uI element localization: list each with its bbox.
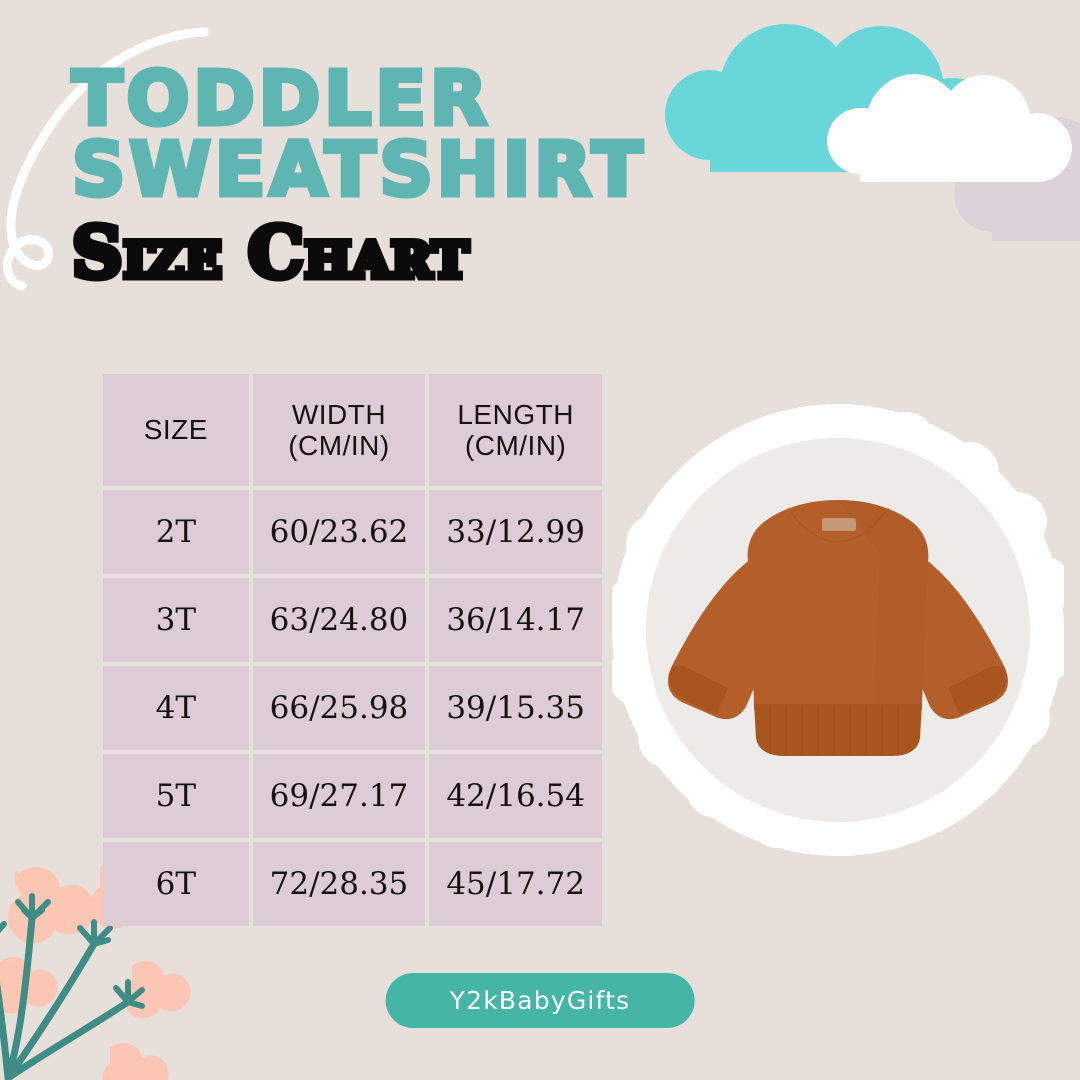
cell-size: 2T (103, 490, 249, 574)
title-line-1: TODDLER (72, 64, 772, 135)
column-header-length: LENGTH (CM/IN) (429, 374, 602, 486)
table-body: 2T 60/23.62 33/12.99 3T 63/24.80 36/14.1… (103, 490, 602, 926)
table-row: 5T 69/27.17 42/16.54 (103, 754, 602, 838)
size-chart-table: SIZE WIDTH (CM/IN) LENGTH (CM/IN) 2T 60/… (99, 370, 606, 930)
cell-length: 42/16.54 (429, 754, 602, 838)
cell-length: 39/15.35 (429, 666, 602, 750)
cell-width: 69/27.17 (253, 754, 426, 838)
size-chart-poster: TODDLER SWEATSHIRT Size Chart SIZE WIDTH… (0, 0, 1080, 1080)
table-row: 3T 63/24.80 36/14.17 (103, 578, 602, 662)
header-main-size: SIZE (144, 414, 208, 445)
cell-width: 66/25.98 (253, 666, 426, 750)
heading-block: TODDLER SWEATSHIRT Size Chart (72, 64, 772, 288)
header-main-length: LENGTH (457, 399, 574, 430)
table-row: 6T 72/28.35 45/17.72 (103, 842, 602, 926)
column-header-width: WIDTH (CM/IN) (253, 374, 426, 486)
cell-length: 45/17.72 (429, 842, 602, 926)
cell-width: 60/23.62 (253, 490, 426, 574)
white-cloud-icon (827, 74, 1072, 182)
mauve-cloud-icon (954, 117, 1080, 241)
title-line-2: SWEATSHIRT (72, 135, 772, 206)
header-main-width: WIDTH (292, 399, 386, 430)
table-header: SIZE WIDTH (CM/IN) LENGTH (CM/IN) (103, 374, 602, 486)
header-sub-width: (CM/IN) (257, 430, 422, 461)
page-title: Size Chart (72, 218, 772, 288)
cell-size: 4T (103, 666, 249, 750)
cell-width: 72/28.35 (253, 842, 426, 926)
cell-length: 33/12.99 (429, 490, 602, 574)
cell-size: 6T (103, 842, 249, 926)
cell-size: 5T (103, 754, 249, 838)
table-header-row: SIZE WIDTH (CM/IN) LENGTH (CM/IN) (103, 374, 602, 486)
table-row: 2T 60/23.62 33/12.99 (103, 490, 602, 574)
header-sub-length: (CM/IN) (433, 430, 598, 461)
neck-label-icon (822, 518, 856, 531)
brand-badge[interactable]: Y2kBabyGifts (386, 973, 695, 1028)
product-medallion (612, 404, 1064, 856)
cell-size: 3T (103, 578, 249, 662)
table-row: 4T 66/25.98 39/15.35 (103, 666, 602, 750)
flower-stems-icon (0, 918, 128, 1078)
column-header-size: SIZE (103, 374, 249, 486)
cell-width: 63/24.80 (253, 578, 426, 662)
cell-length: 36/14.17 (429, 578, 602, 662)
